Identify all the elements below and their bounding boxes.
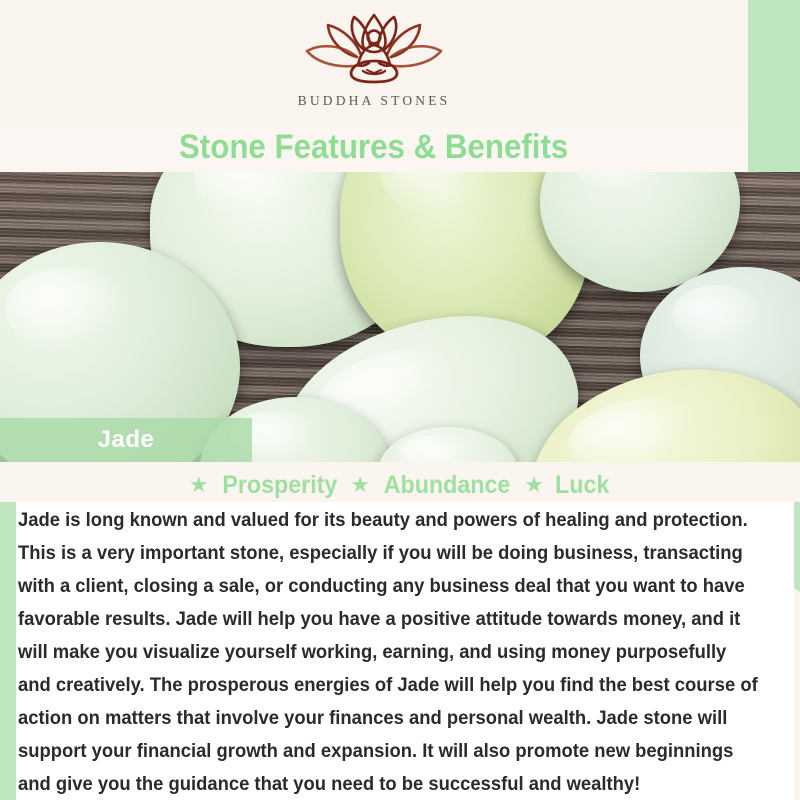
keyword-luck: Luck: [555, 471, 609, 500]
description-block: Jade is long known and valued for its be…: [16, 502, 794, 800]
stone-name-label: Jade: [98, 426, 155, 454]
description-paragraph: Jade is long known and valued for its be…: [18, 504, 761, 800]
poster-root: BUDDHA STONES Stone Features & Benefits …: [0, 0, 800, 800]
star-icon: ★: [350, 474, 370, 496]
title-bar: Stone Features & Benefits: [0, 122, 748, 172]
keyword-prosperity: Prosperity: [222, 471, 337, 500]
stone-photo: Jade: [0, 172, 800, 462]
star-icon: ★: [524, 474, 544, 496]
keyword-abundance: Abundance: [384, 471, 511, 500]
star-icon: ★: [189, 474, 209, 496]
lotus-meditation-icon: [299, 13, 449, 85]
brand-name: BUDDHA STONES: [298, 93, 451, 109]
keyword-row: ★ Prosperity ★ Abundance ★ Luck: [0, 462, 800, 502]
stone-name-badge: Jade: [0, 418, 252, 462]
page-title: Stone Features & Benefits: [179, 128, 568, 167]
brand-header: BUDDHA STONES: [0, 0, 748, 122]
